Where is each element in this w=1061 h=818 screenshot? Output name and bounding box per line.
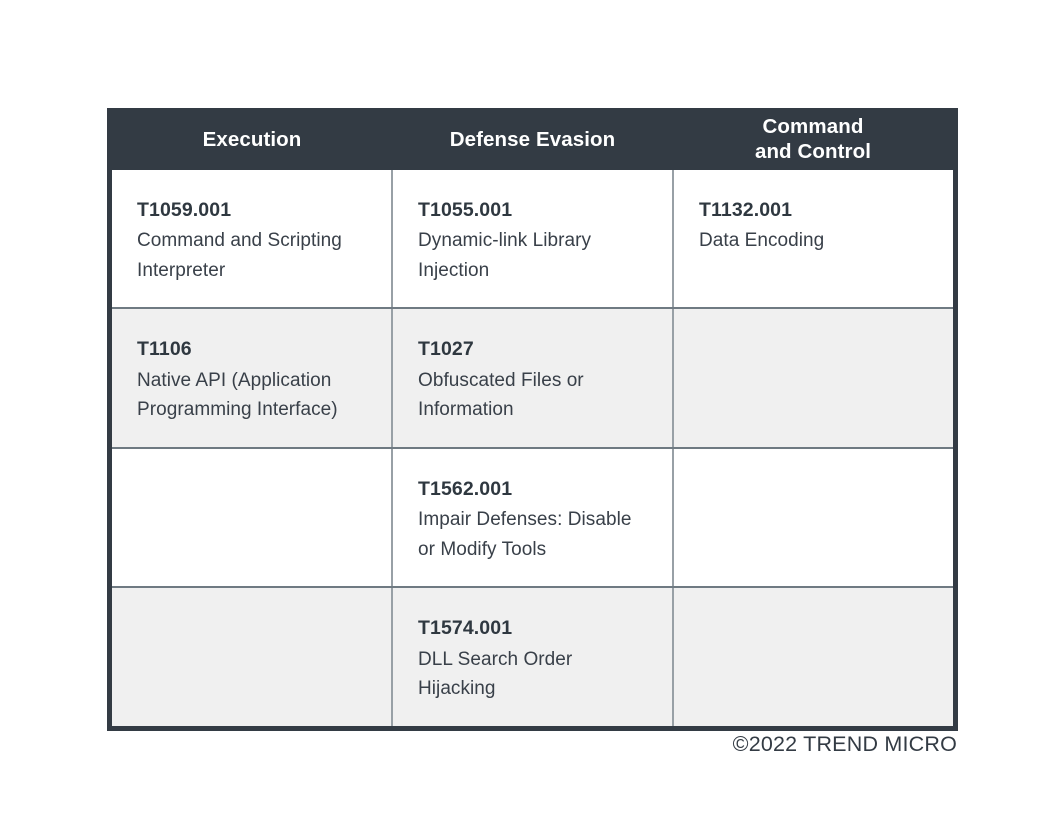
technique-cell: T1574.001 DLL Search Order Hijacking [392, 587, 673, 725]
column-header-defense-evasion: Defense Evasion [392, 108, 673, 170]
technique-cell-empty [112, 448, 392, 587]
technique-name: Command and Scripting Interpreter [137, 226, 369, 285]
technique-cell: T1027 Obfuscated Files or Information [392, 308, 673, 447]
column-header-command-and-control-line-2: and Control [681, 139, 945, 164]
technique-id: T1106 [137, 334, 369, 364]
technique-cell-empty [112, 587, 392, 725]
table-body: T1059.001 Command and Scripting Interpre… [112, 170, 953, 726]
technique-name: Dynamic-link Library Injection [418, 226, 650, 285]
technique-name: Impair Defenses: Disable or Modify Tools [418, 505, 650, 564]
page-root: Execution Defense Evasion Command and Co… [0, 0, 1061, 818]
technique-cell: T1055.001 Dynamic-link Library Injection [392, 170, 673, 308]
technique-cell-empty [673, 448, 953, 587]
technique-id: T1027 [418, 334, 650, 364]
technique-name: Native API (Application Programming Inte… [137, 366, 369, 425]
technique-id: T1055.001 [418, 195, 650, 225]
technique-cell: T1132.001 Data Encoding [673, 170, 953, 308]
column-header-execution: Execution [112, 108, 392, 170]
column-header-command-and-control-line-1: Command [681, 114, 945, 139]
table-row: T1059.001 Command and Scripting Interpre… [112, 170, 953, 308]
technique-cell-empty [673, 308, 953, 447]
technique-name: Data Encoding [699, 226, 931, 256]
technique-id: T1132.001 [699, 195, 931, 225]
technique-id: T1574.001 [418, 613, 650, 643]
technique-table: Execution Defense Evasion Command and Co… [112, 108, 953, 726]
technique-cell: T1059.001 Command and Scripting Interpre… [112, 170, 392, 308]
header-row: Execution Defense Evasion Command and Co… [112, 108, 953, 170]
column-header-execution-line-1: Execution [120, 127, 384, 152]
technique-cell-empty [673, 587, 953, 725]
technique-cell: T1562.001 Impair Defenses: Disable or Mo… [392, 448, 673, 587]
technique-id: T1059.001 [137, 195, 369, 225]
table-header: Execution Defense Evasion Command and Co… [112, 108, 953, 170]
technique-name: DLL Search Order Hijacking [418, 645, 650, 704]
attack-technique-matrix: Execution Defense Evasion Command and Co… [107, 108, 958, 731]
table-row: T1574.001 DLL Search Order Hijacking [112, 587, 953, 725]
technique-id: T1562.001 [418, 474, 650, 504]
copyright-notice: ©2022 TREND MICRO [733, 732, 957, 757]
table-row: T1106 Native API (Application Programmin… [112, 308, 953, 447]
table-row: T1562.001 Impair Defenses: Disable or Mo… [112, 448, 953, 587]
technique-name: Obfuscated Files or Information [418, 366, 650, 425]
column-header-command-and-control: Command and Control [673, 108, 953, 170]
column-header-defense-evasion-line-1: Defense Evasion [400, 127, 665, 152]
technique-cell: T1106 Native API (Application Programmin… [112, 308, 392, 447]
